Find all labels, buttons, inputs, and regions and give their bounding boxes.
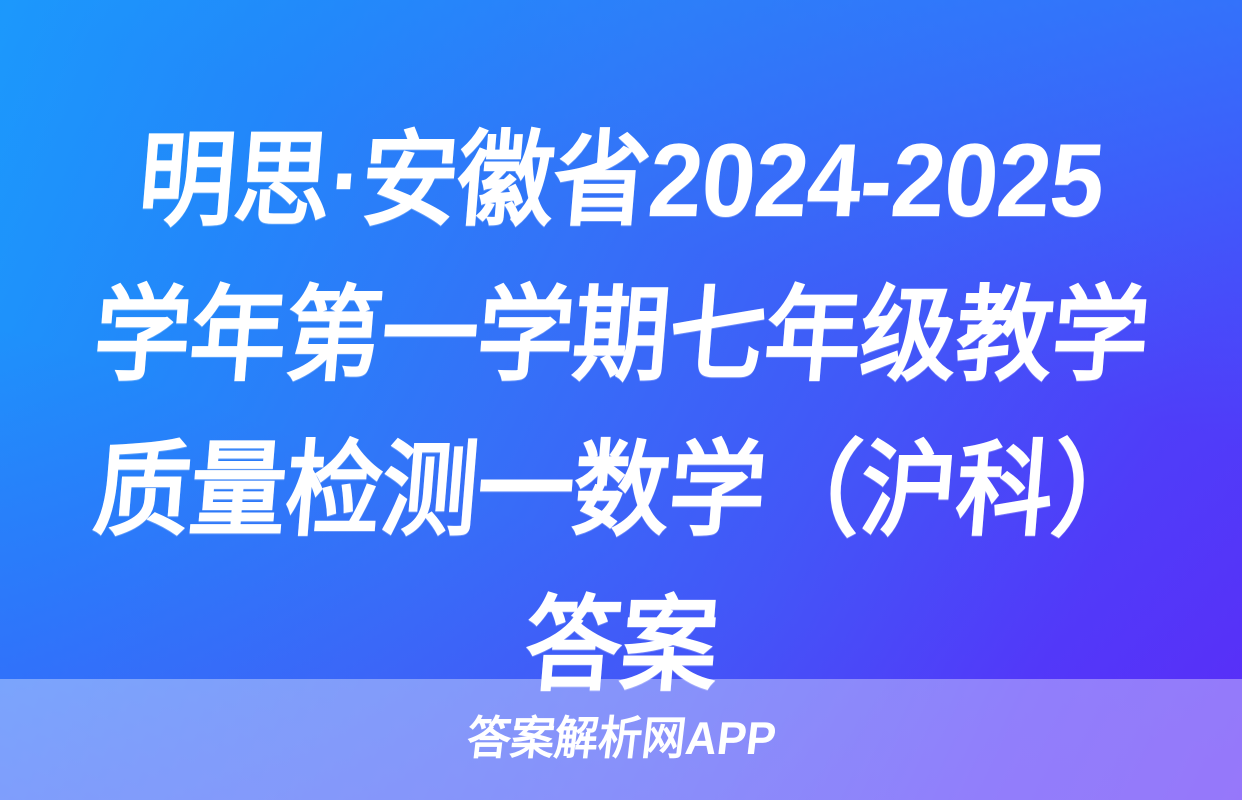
title-line-2: 学年第一学期七年级教学 xyxy=(69,259,1173,414)
footer-brand-label: 答案解析网APP xyxy=(464,715,778,765)
title-line-3: 质量检测一数学（沪科） xyxy=(69,414,1173,569)
answer-card: 明思·安徽省2024-2025 学年第一学期七年级教学 质量检测一数学（沪科） … xyxy=(0,0,1242,800)
footer-brand-band: 答案解析网APP xyxy=(0,679,1242,800)
title-line-1: 明思·安徽省2024-2025 xyxy=(69,104,1173,259)
page-title: 明思·安徽省2024-2025 学年第一学期七年级教学 质量检测一数学（沪科） … xyxy=(0,104,1242,724)
